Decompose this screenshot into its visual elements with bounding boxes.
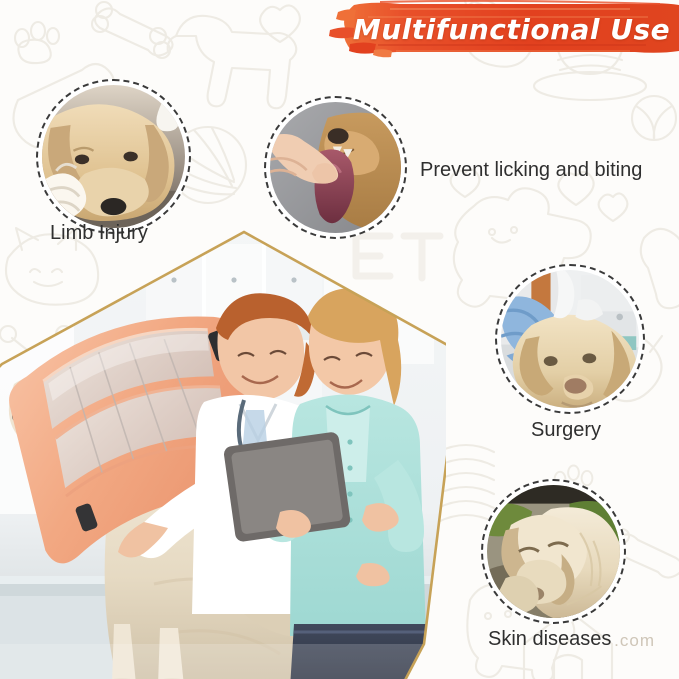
caption-prevent-licking: Prevent licking and biting <box>420 159 642 182</box>
prevent-licking-photo <box>270 102 401 233</box>
banner-multifunctional-use: Multifunctional Use <box>320 0 679 58</box>
watermark: .com <box>614 631 655 651</box>
caption-limb-injury: Limb Injury <box>50 222 148 245</box>
feature-photo-limb-injury <box>36 79 191 234</box>
page-title: Multifunctional Use <box>320 0 679 58</box>
surgery-photo <box>501 270 639 408</box>
feature-photo-surgery <box>495 264 645 414</box>
caption-surgery: Surgery <box>531 419 601 442</box>
main-product-photo <box>0 224 446 679</box>
limb-injury-photo <box>42 85 185 228</box>
skin-diseases-photo <box>487 485 620 618</box>
product-infographic-poster: Multifunctional Use <box>0 0 679 679</box>
feature-photo-prevent-licking <box>264 96 407 239</box>
feature-photo-skin-diseases <box>481 479 626 624</box>
caption-skin-diseases: Skin diseases <box>488 628 611 651</box>
